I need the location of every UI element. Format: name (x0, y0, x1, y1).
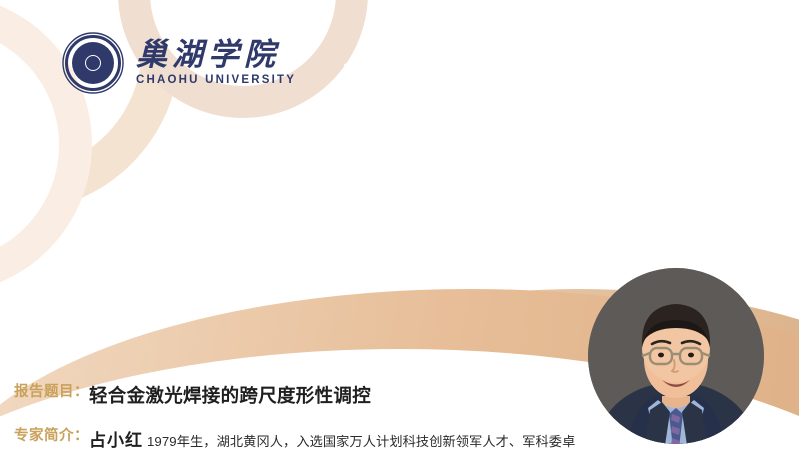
poster-canvas: 1977 巢湖学院 CHAOHU UNIVERSITY 汤山学术讲坛 专家学者专… (0, 0, 799, 449)
speaker-name: 占小红 (89, 431, 143, 449)
banner-divider (522, 60, 524, 86)
university-name-en: CHAOHU UNIVERSITY (136, 75, 296, 87)
topic-row: 报告题目： 轻合金激光焊接的跨尺度形性调控 (0, 382, 799, 410)
speaker-row: 专家简介： 占小红1979年生，湖北黄冈人，入选国家万人计划科技创新领军人才、军… (0, 426, 799, 449)
poster-content: 报告题目： 轻合金激光焊接的跨尺度形性调控 专家简介： 占小红1979年生，湖北… (0, 382, 799, 449)
topic-label: 报告题目： (14, 382, 89, 404)
university-name-cn: 巢湖学院 (136, 39, 296, 70)
university-logo: 1977 巢湖学院 CHAOHU UNIVERSITY (62, 32, 296, 94)
event-series-banner: 汤山学术讲坛 专家学者专场 (298, 51, 799, 94)
speaker-label: 专家简介： (14, 426, 89, 448)
topic-value: 轻合金激光焊接的跨尺度形性调控 (89, 382, 371, 410)
banner-main-title: 汤山学术讲坛 (342, 56, 504, 90)
university-name-block: 巢湖学院 CHAOHU UNIVERSITY (136, 39, 296, 87)
speaker-bio-text: 1979年生，湖北黄冈人，入选国家万人计划科技创新领军人才、军科委卓青基金。现任… (89, 434, 585, 449)
svg-text:1977: 1977 (89, 62, 97, 67)
speaker-bio-block: 占小红1979年生，湖北黄冈人，入选国家万人计划科技创新领军人才、军科委卓青基金… (89, 426, 586, 449)
banner-subtitle: 专家学者专场 (542, 60, 668, 85)
university-crest-icon: 1977 (62, 32, 124, 94)
poster-header: 1977 巢湖学院 CHAOHU UNIVERSITY 汤山学术讲坛 专家学者专… (0, 0, 799, 100)
